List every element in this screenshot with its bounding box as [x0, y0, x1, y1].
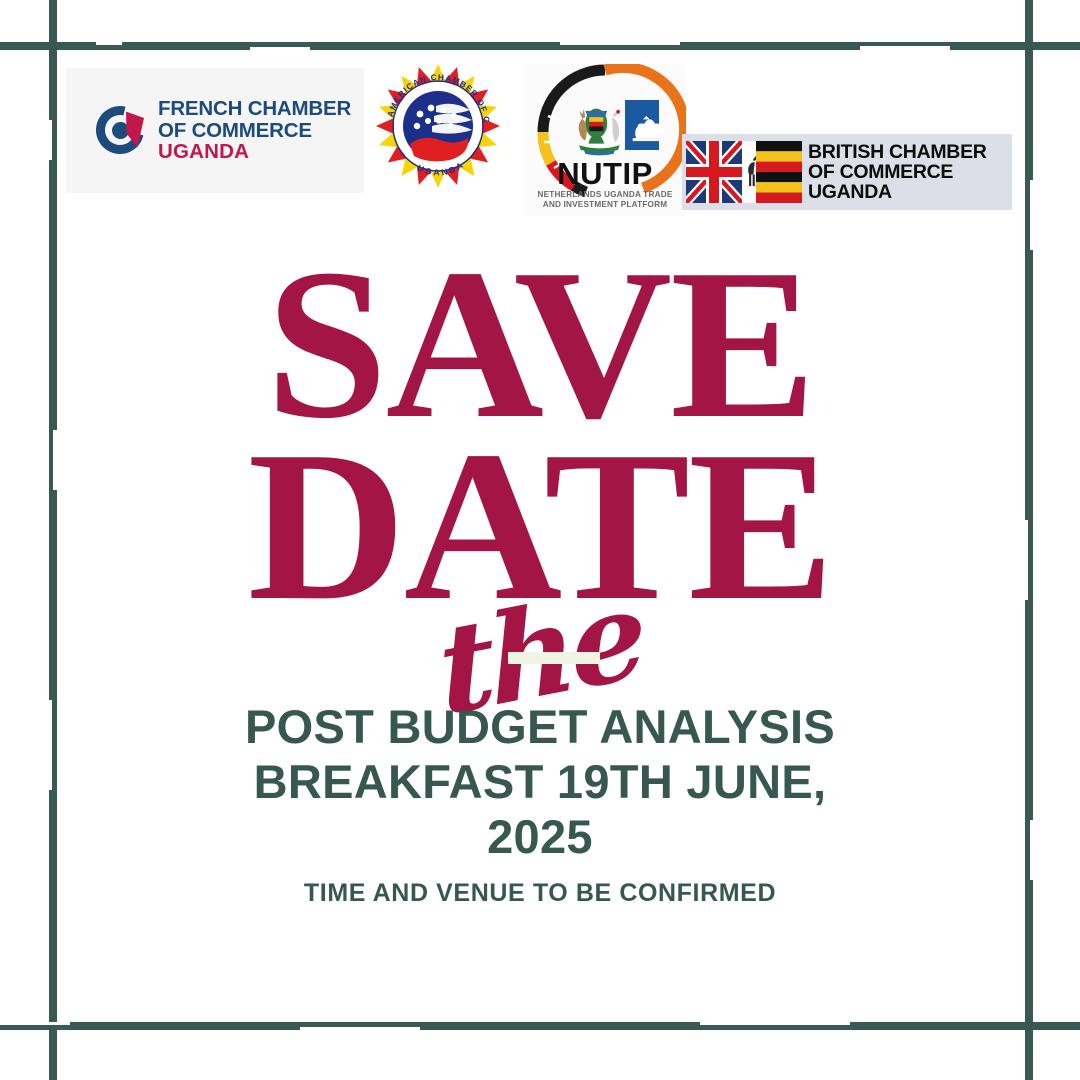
french-chamber-cci-icon: [96, 106, 146, 156]
british-chamber-line1: BRITISH CHAMBER: [808, 142, 987, 162]
british-chamber-line2: OF COMMERCE: [808, 162, 987, 182]
frame-nick: [0, 1022, 70, 1025]
frame-line-bottom: [0, 1022, 1080, 1030]
french-chamber-wordmark: FRENCH CHAMBER OF COMMERCE UGANDA: [158, 98, 351, 163]
french-chamber-line3: UGANDA: [158, 141, 351, 163]
event-title-line3: 2025: [140, 810, 940, 865]
logo-american-chamber-of-commerce-uganda: AMERICAN CHAMBER OF COMMERCE UGANDA: [376, 58, 500, 202]
event-title-line1: POST BUDGET ANALYSIS: [140, 700, 940, 755]
nutip-logo-icon: NUTIP NETHERLANDS UGANDA TRADE AND INVES…: [524, 64, 686, 216]
frame-nick: [300, 1027, 420, 1030]
logo-french-chamber-of-commerce-uganda: FRENCH CHAMBER OF COMMERCE UGANDA: [66, 68, 364, 193]
amcham-seal-icon: AMERICAN CHAMBER OF COMMERCE UGANDA: [376, 58, 500, 202]
section-divider: [508, 652, 600, 664]
save-the-date-poster: FRENCH CHAMBER OF COMMERCE UGANDA: [0, 0, 1080, 1080]
event-title: POST BUDGET ANALYSIS BREAKFAST 19TH JUNE…: [140, 700, 940, 865]
event-title-line2: BREAKFAST 19TH JUNE,: [140, 755, 940, 810]
british-chamber-line3: UGANDA: [808, 182, 987, 202]
save-the-date-headline: SAVE DATE the: [0, 236, 1080, 631]
svg-text:NUTIP: NUTIP: [557, 156, 653, 191]
svg-text:NETHERLANDS UGANDA TRADE: NETHERLANDS UGANDA TRADE: [537, 190, 672, 199]
frame-nick: [700, 1022, 850, 1025]
partner-logo-row: FRENCH CHAMBER OF COMMERCE UGANDA: [0, 50, 1080, 228]
french-chamber-line2: OF COMMERCE: [158, 120, 351, 142]
french-chamber-line1: FRENCH CHAMBER: [158, 98, 351, 120]
frame-nick: [560, 42, 680, 45]
svg-text:AND INVESTMENT PLATFORM: AND INVESTMENT PLATFORM: [543, 200, 668, 209]
event-details: POST BUDGET ANALYSIS BREAKFAST 19TH JUNE…: [140, 700, 940, 908]
logo-nutip: NUTIP NETHERLANDS UGANDA TRADE AND INVES…: [524, 64, 686, 216]
frame-nick: [1030, 820, 1033, 880]
frame-nick: [96, 42, 122, 45]
union-jack-and-uganda-flag-icon: [686, 141, 802, 203]
logo-british-chamber-of-commerce-uganda: BRITISH CHAMBER OF COMMERCE UGANDA: [682, 134, 1012, 210]
event-venue-note: TIME AND VENUE TO BE CONFIRMED: [140, 879, 940, 908]
british-chamber-wordmark: BRITISH CHAMBER OF COMMERCE UGANDA: [808, 142, 987, 203]
